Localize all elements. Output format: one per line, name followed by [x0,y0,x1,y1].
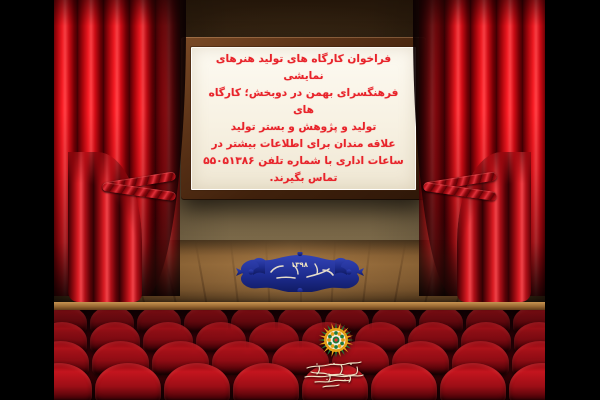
announcement-line-3: تولید و پژوهش و بستر تولید [200,119,407,136]
announcement-frame: فراخوان کارگاه های تولید هنرهای نمایشی ف… [181,37,426,200]
announcement-line-6: تماس بگیرند. [200,170,407,187]
audience-seat [164,363,230,400]
persian-calligraphy-wordmark [299,360,373,390]
theater-announcement-poster: ۱۳۹۸ رونق تولید فراخوان کارگاه های تولید… [0,0,600,400]
announcement-line-5: ساعات اداری با شماره تلفن ۵۵۰۵۱۳۸۶ [200,153,407,170]
audience-seat [233,363,299,400]
curtain-tieback-right [423,176,497,200]
announcement-line-4: علاقه مندان برای اطلاعات بیشتر در [200,136,407,153]
sunburst-rosette-logo [318,322,354,358]
announcement-screen: فراخوان کارگاه های تولید هنرهای نمایشی ف… [191,47,416,190]
announcement-text: فراخوان کارگاه های تولید هنرهای نمایشی ف… [192,47,415,190]
organisation-logo: سازمان فرهنگی هنری شهرداری تهران [297,322,375,390]
audience-seat [95,363,161,400]
letterbox-bar-left [0,0,54,400]
announcement-line-2: فرهنگسرای بهمن در دوبخش؛ کارگاه های [200,85,407,119]
letterbox-bar-right [545,0,600,400]
audience-seat [371,363,437,400]
announcement-line-1: فراخوان کارگاه های تولید هنرهای نمایشی [200,51,407,85]
audience-seat [440,363,506,400]
curtain-tieback-left [102,176,176,200]
floor-emblem-ronagh-tolid: ۱۳۹۸ رونق تولید [205,252,395,292]
